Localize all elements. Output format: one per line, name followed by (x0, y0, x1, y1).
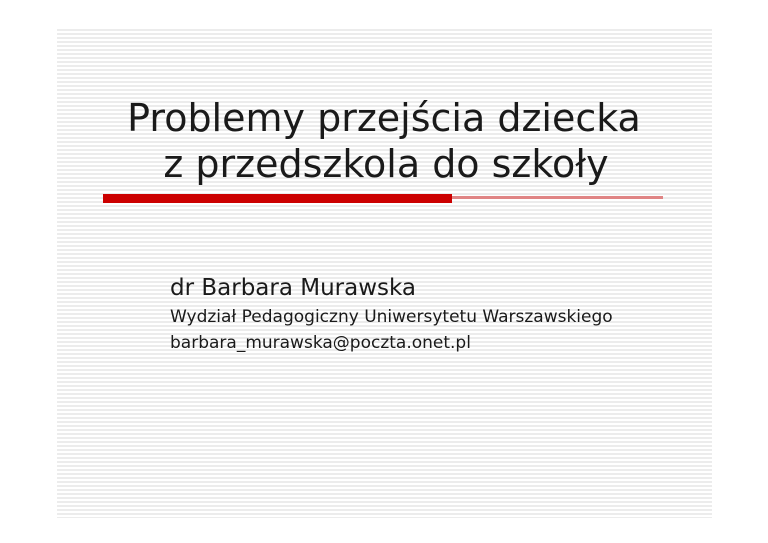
title-divider (103, 193, 663, 205)
divider-thick-segment (103, 194, 452, 203)
slide-subtitle: dr Barbara Murawska Wydział Pedagogiczny… (170, 272, 690, 356)
author-email: barbara_murawska@poczta.onet.pl (170, 330, 690, 356)
title-line-1: Problemy przejścia dziecka (0, 95, 768, 141)
author-affiliation: Wydział Pedagogiczny Uniwersytetu Warsza… (170, 304, 690, 330)
divider-thin-segment (452, 196, 663, 199)
slide-canvas: Problemy przejścia dziecka z przedszkola… (0, 0, 768, 543)
author-name: dr Barbara Murawska (170, 272, 690, 304)
slide-title: Problemy przejścia dziecka z przedszkola… (0, 95, 768, 187)
title-line-2: z przedszkola do szkoły (0, 141, 768, 187)
